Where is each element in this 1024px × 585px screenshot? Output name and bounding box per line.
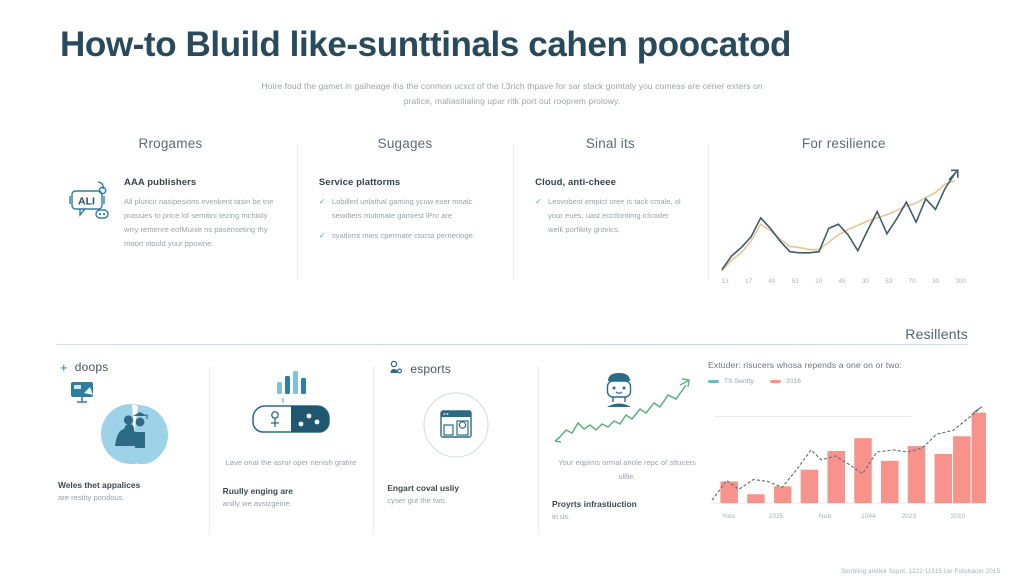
person-icon <box>389 360 403 377</box>
xtick: 1044 <box>849 513 888 520</box>
legend-swatch <box>770 380 781 383</box>
xtick: 53 <box>885 278 892 285</box>
list-item: ✓ syatlomt mies cpermate ctocta pernerio… <box>319 229 491 243</box>
list-item-label: syatlomt mies cpermate ctocta pernerioge… <box>332 231 475 240</box>
pie-people-illustration <box>58 380 195 464</box>
bar-chart-xticks: Yota 2015 Nub 1044 2023 2010 <box>706 509 986 520</box>
check-icon: ✓ <box>319 195 326 210</box>
xtick: 30 <box>862 278 869 285</box>
bottom-card-gaming: Lave onat the asrur oper nenish gratire … <box>209 360 374 540</box>
bar <box>935 454 953 503</box>
top-column-subheading: AAA publishers <box>124 177 275 188</box>
arrow-head-icon <box>949 170 958 180</box>
bar-chart-panel: Extuder: risucers whosa repends a one on… <box>706 360 986 560</box>
top-column-heading: Rrogames <box>66 136 275 151</box>
bottom-card-foot-title: Ruully enging are <box>223 486 360 496</box>
xtick: 17 <box>745 278 752 285</box>
bar <box>881 461 899 503</box>
bottom-card-infrastructure: Your eqpims ormal anole repc of sttucers… <box>538 360 716 540</box>
list-item-label: Lobilled unlathal gaming ycuw exer moalc… <box>332 197 473 220</box>
xtick: 10 <box>815 278 822 285</box>
xtick: Yota <box>706 513 751 520</box>
bottom-card-heading: doops <box>75 360 109 374</box>
list-item: ✓ Lesvobest empict oree is tack cmale, o… <box>535 195 685 237</box>
bottom-card-footer: Weles thet appalices are restity pondous… <box>58 480 195 502</box>
top-column-subheading: Cloud, anti-cheee <box>535 177 685 188</box>
bottom-card-foot-text: anilly we avsizgeine. <box>223 499 360 508</box>
xtick: 2015 <box>751 513 801 520</box>
top-column-sugages: Sugages Service plattorms ✓ Lobilled unl… <box>297 136 513 288</box>
bottom-card-esports: esports Engart coval usliy cyser gut the… <box>373 360 538 540</box>
bar-chart-description: Extuder: risucers whosa repends a one on… <box>708 360 986 370</box>
line-chart-xticks: 13 17 40 53 10 45 30 53 70 30 100 <box>718 275 970 285</box>
bottom-card-foot-title: Engart coval usliy <box>387 483 524 493</box>
arrow-head-icon <box>974 407 982 413</box>
top-column-sinal-its: Sinal its Cloud, anti-cheee ✓ Lesvobest … <box>513 136 707 288</box>
legend-swatch <box>708 380 719 383</box>
bottom-card-foot-text: in us. <box>552 512 702 521</box>
bar-chart-legend: TS Sentty 2016 <box>708 378 986 385</box>
bar <box>801 470 819 503</box>
bottom-card-footer: Engart coval usliy cyser gut the two. <box>387 483 524 505</box>
bottom-card-foot-title: Weles thet appalices <box>58 480 195 490</box>
bottom-card-caption: Your eqpims ormal anole repc of sttucers… <box>552 456 702 483</box>
xtick: 100 <box>955 278 966 285</box>
legend-label: TS Sentty <box>724 378 754 385</box>
bottom-card-foot-title: Proyrts infrastiuction <box>552 499 702 509</box>
footnote: Storbling andlek Scpnt, 1222 11315 car F… <box>841 568 1000 575</box>
bottom-card-caption: Lave onat the asrur oper nenish gratire <box>223 456 360 470</box>
bottom-card-footer: Proyrts infrastiuction in us. <box>552 499 702 521</box>
xtick: Nub <box>801 513 849 520</box>
page-title: How-to Bluild like-sunttinals cahen pooc… <box>60 26 964 65</box>
bar <box>908 446 926 503</box>
bottom-card-heading-row: esports <box>389 360 524 377</box>
legend-item: 2016 <box>770 378 801 385</box>
bar <box>953 436 971 503</box>
xtick: 70 <box>909 278 916 285</box>
bar <box>972 413 986 503</box>
top-column-bullets: ✓ Lobilled unlathal gaming ycuw exer moa… <box>319 195 491 243</box>
xtick: 45 <box>838 278 845 285</box>
bar <box>720 481 738 503</box>
line-chart <box>718 165 970 275</box>
xtick: 2023 <box>888 513 930 520</box>
top-column-heading: Sinal its <box>535 136 685 151</box>
section-label: Resillents <box>905 326 968 342</box>
xtick: 53 <box>792 278 799 285</box>
legend-item: TS Sentty <box>708 378 754 385</box>
top-column-rrogames: Rrogames <box>44 136 297 288</box>
bar-series <box>720 413 986 503</box>
page-subtitle: Hoire foud the gamet in galheage ihs the… <box>252 79 772 110</box>
bar-icon <box>277 371 306 403</box>
bottom-card-foot-text: are restity pondous. <box>58 493 195 502</box>
svg-text:ALI: ALI <box>78 195 95 207</box>
bottom-cards-row: + doops <box>44 360 716 540</box>
ali-chat-robot-icon: ALI <box>66 177 114 251</box>
top-columns-row: Rrogames <box>0 136 1024 288</box>
bar-chart <box>706 391 986 509</box>
top-column-for-resilience: For resilience 13 17 40 53 10 45 30 53 7… <box>708 136 980 288</box>
gamepad-bars-illustration <box>223 366 360 450</box>
bar <box>747 494 765 503</box>
browser-window-circle-illustration <box>387 383 524 467</box>
bottom-card-doops: + doops <box>44 360 209 540</box>
bar <box>854 438 872 503</box>
xtick: 40 <box>768 278 775 285</box>
check-icon: ✓ <box>319 229 326 244</box>
line-chart-title: For resilience <box>718 136 970 151</box>
xtick: 2010 <box>930 513 986 520</box>
gamepad-icon <box>253 406 329 432</box>
list-item-label: Lesvobest empict oree is tack cmale, ol … <box>548 197 681 234</box>
pie-chart-illustration <box>101 404 168 464</box>
bottom-card-heading: esports <box>410 362 451 376</box>
bar <box>827 451 845 503</box>
bottom-card-foot-text: cyser gut the two. <box>387 496 524 505</box>
list-item: ✓ Lobilled unlathal gaming ycuw exer moa… <box>319 195 491 223</box>
check-icon: ✓ <box>535 195 542 210</box>
infographic-page: How-to Bluild like-sunttinals cahen pooc… <box>0 0 1024 585</box>
person-growth-arrow-illustration <box>552 366 702 450</box>
top-column-subheading: Service plattorms <box>319 177 491 188</box>
xtick: 30 <box>932 278 939 285</box>
xtick: 13 <box>722 278 729 285</box>
bar <box>774 486 792 503</box>
arrow-head-icon <box>680 379 689 387</box>
hero-section: How-to Bluild like-sunttinals cahen pooc… <box>0 0 1024 110</box>
top-column-paragraph: All pluricir nasipesions evenkent tasin … <box>124 195 275 251</box>
bottom-card-footer: Ruully enging are anilly we avsizgeine. <box>223 486 360 508</box>
bottom-card-heading-row: + doops <box>60 360 195 374</box>
top-column-bullets: ✓ Lesvobest empict oree is tack cmale, o… <box>535 195 685 237</box>
top-column-heading: Sugages <box>319 136 491 151</box>
person-icon <box>607 373 631 407</box>
plus-icon: + <box>60 361 68 374</box>
legend-label: 2016 <box>786 378 801 385</box>
section-divider <box>56 344 968 345</box>
arrow-tail-icon <box>555 437 561 442</box>
line-series-primary <box>721 173 954 269</box>
monitor-icon <box>71 382 93 402</box>
